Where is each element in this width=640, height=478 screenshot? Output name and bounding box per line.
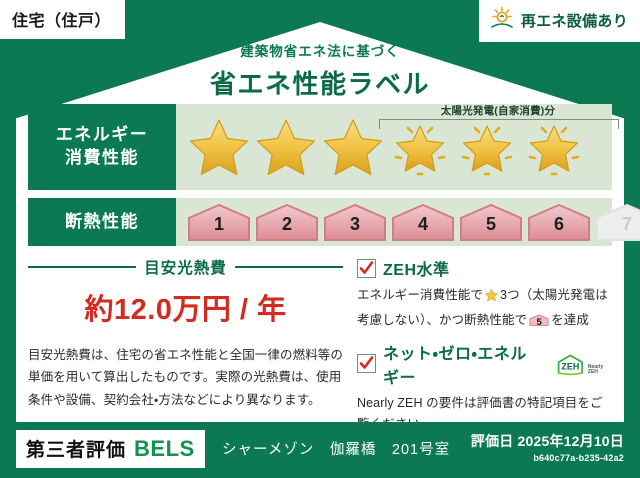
star-icon — [320, 116, 386, 178]
insulation-levels-area: 1 2 3 — [176, 198, 640, 246]
house-level-number: 5 — [529, 315, 549, 332]
house-level-icon: 4 — [390, 202, 456, 242]
house-level-number: 3 — [322, 214, 388, 235]
zeh-text-part3: を達成 — [551, 313, 589, 327]
house-level-icon: 1 — [186, 202, 252, 242]
insulation-level-scale: 1 2 3 — [176, 198, 640, 246]
label-title-block: 建築物省エネ法に基づく 省エネ性能ラベル — [0, 40, 640, 101]
renewable-badge-label: 再エネ設備あり — [521, 10, 628, 31]
house-level-number: 4 — [390, 214, 456, 235]
house-level-icon: 5 — [529, 312, 549, 328]
zeh-logo-subtext: Nearly ZEH — [588, 365, 612, 376]
utility-cost-heading-text: 目安光熱費 — [144, 256, 227, 278]
house-level-icon-inactive: 7 — [594, 202, 640, 242]
heading-rule-right — [235, 266, 343, 268]
title-main: 省エネ性能ラベル — [0, 64, 640, 101]
insulation-performance-row: 断熱性能 1 — [28, 198, 612, 246]
checkmark-icon — [357, 259, 376, 278]
insulation-performance-label: 断熱性能 — [28, 198, 176, 246]
bels-en-text: BELS — [134, 436, 195, 462]
house-level-number: 1 — [186, 214, 252, 235]
zeh-text-part1: エネルギー消費性能で — [357, 288, 483, 302]
star-icon-solar — [387, 116, 453, 178]
zeh-standard-headline: ZEH水準 — [357, 256, 612, 280]
energy-label-line2: 消費性能 — [65, 147, 139, 170]
checkmark-icon — [357, 354, 376, 373]
house-level-number: 7 — [594, 214, 640, 235]
house-level-number: 2 — [254, 214, 320, 235]
sun-icon — [489, 6, 515, 35]
energy-stars-area: 太陽光発電(自家消費)分 — [176, 104, 612, 190]
bels-logo: 第三者評価 BELS — [16, 430, 205, 468]
heading-rule-left — [28, 266, 136, 268]
net-zero-title: ネット・ゼロ・エネルギー — [383, 340, 543, 388]
house-level-number: 6 — [526, 214, 592, 235]
svg-text:ZEH: ZEH — [562, 361, 580, 371]
house-level-icon: 2 — [254, 202, 320, 242]
utility-cost-description: 目安光熱費は、住宅の省エネ性能と全国一律の燃料等の単価を用いて算出したものです。… — [28, 344, 343, 411]
insulation-label-text: 断熱性能 — [65, 211, 139, 234]
house-level-icon: 3 — [322, 202, 388, 242]
house-level-number: 5 — [458, 214, 524, 235]
house-level-icon: 5 — [458, 202, 524, 242]
star-icon — [253, 116, 319, 178]
zeh-standard-block: ZEH水準 エネルギー消費性能で3つ（太陽光発電は考慮しない）、かつ断熱性能で5… — [357, 256, 612, 332]
evaluation-info: 評価日 2025年12月10日 b640c77a-b235-42a2 — [471, 431, 624, 463]
star-icon — [484, 288, 499, 310]
title-subtitle: 建築物省エネ法に基づく — [0, 40, 640, 60]
renewable-equipment-badge: 再エネ設備あり — [479, 0, 640, 42]
zeh-standard-title: ZEH水準 — [383, 256, 450, 280]
details-section: 目安光熱費 約12.0万円 / 年 目安光熱費は、住宅の省エネ性能と全国一律の燃… — [28, 256, 612, 444]
house-level-icon: 6 — [526, 202, 592, 242]
property-address: シャーメゾン 伽羅橋 201号室 — [222, 438, 450, 459]
evaluation-id: b640c77a-b235-42a2 — [471, 453, 624, 463]
evaluation-date: 評価日 2025年12月10日 — [471, 431, 624, 451]
housing-type-tag: 住宅（住戸） — [0, 0, 125, 39]
star-icon — [186, 116, 252, 178]
star-icon-solar — [454, 116, 520, 178]
bels-jp-text: 第三者評価 — [26, 435, 126, 462]
net-zero-headline: ネット・ゼロ・エネルギー ZEH Nearly ZEH — [357, 340, 612, 388]
zeh-standard-text: エネルギー消費性能で3つ（太陽光発電は考慮しない）、かつ断熱性能で5を達成 — [357, 285, 612, 332]
bels-energy-label: 住宅（住戸） 再エネ設備あり 建築物省エネ法に基づく 省エネ性能ラベル — [0, 0, 640, 478]
star-icon-solar — [521, 116, 587, 178]
performance-section: エネルギー 消費性能 太陽光発電(自家消費)分 — [28, 104, 612, 254]
utility-cost-heading: 目安光熱費 — [28, 256, 343, 278]
energy-performance-label: エネルギー 消費性能 — [28, 104, 176, 190]
utility-cost-column: 目安光熱費 約12.0万円 / 年 目安光熱費は、住宅の省エネ性能と全国一律の燃… — [28, 256, 343, 444]
energy-performance-row: エネルギー 消費性能 太陽光発電(自家消費)分 — [28, 104, 612, 190]
criteria-column: ZEH水準 エネルギー消費性能で3つ（太陽光発電は考慮しない）、かつ断熱性能で5… — [343, 256, 612, 444]
utility-cost-value: 約12.0万円 / 年 — [28, 286, 343, 328]
star-rating — [176, 104, 612, 190]
zeh-logo-icon: ZEH Nearly ZEH — [555, 352, 612, 376]
label-footer: 第三者評価 BELS シャーメゾン 伽羅橋 201号室 評価日 2025年12月… — [0, 422, 640, 478]
energy-label-line1: エネルギー — [56, 124, 149, 147]
